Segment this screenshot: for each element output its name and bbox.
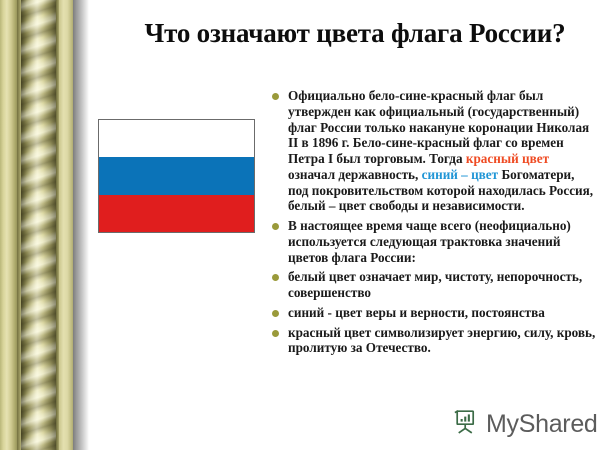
bullet-official-flag-segment-2: означал державность, <box>288 167 422 182</box>
slide-canvas: Что означают цвета флага России? Официал… <box>0 0 600 450</box>
flag-band-blue <box>99 157 254 194</box>
russian-flag <box>98 119 255 233</box>
bullet-modern-interpretation: В настоящее время чаще всего (неофициаль… <box>268 218 598 265</box>
content-body: Официально бело-сине-красный флаг был ут… <box>268 88 598 360</box>
bullet-official-flag: Официально бело-сине-красный флаг был ут… <box>268 88 598 214</box>
bullet-list: Официально бело-сине-красный флаг был ут… <box>268 88 598 356</box>
bullet-official-flag-segment-1: красный цвет <box>466 151 549 166</box>
bullet-blue-meaning: синий - цвет веры и верности, постоянств… <box>268 305 598 321</box>
flag-band-white <box>99 120 254 157</box>
slide-title: Что означают цвета флага России? <box>120 16 590 51</box>
bullet-white-meaning: белый цвет означает мир, чистоту, непоро… <box>268 269 598 301</box>
myshared-watermark: MyShared <box>452 408 598 440</box>
gold-column-border <box>0 0 88 450</box>
bullet-red-meaning-segment-0: красный цвет символизирует энергию, силу… <box>288 325 595 356</box>
flag-band-red <box>99 195 254 232</box>
bullet-modern-interpretation-segment-0: В настоящее время чаще всего (неофициаль… <box>288 218 571 265</box>
border-flat-band-right <box>59 0 74 450</box>
myshared-label: MyShared <box>486 412 598 437</box>
flipchart-chart-icon <box>452 408 479 440</box>
border-drop-shadow <box>73 0 89 450</box>
bullet-official-flag-segment-3: синий – цвет <box>422 167 499 182</box>
border-column-sheen <box>21 0 57 450</box>
bullet-white-meaning-segment-0: белый цвет означает мир, чистоту, непоро… <box>288 269 582 300</box>
border-flat-band-left <box>0 0 18 450</box>
bullet-blue-meaning-segment-0: синий - цвет веры и верности, постоянств… <box>288 305 545 320</box>
bullet-red-meaning: красный цвет символизирует энергию, силу… <box>268 325 598 357</box>
